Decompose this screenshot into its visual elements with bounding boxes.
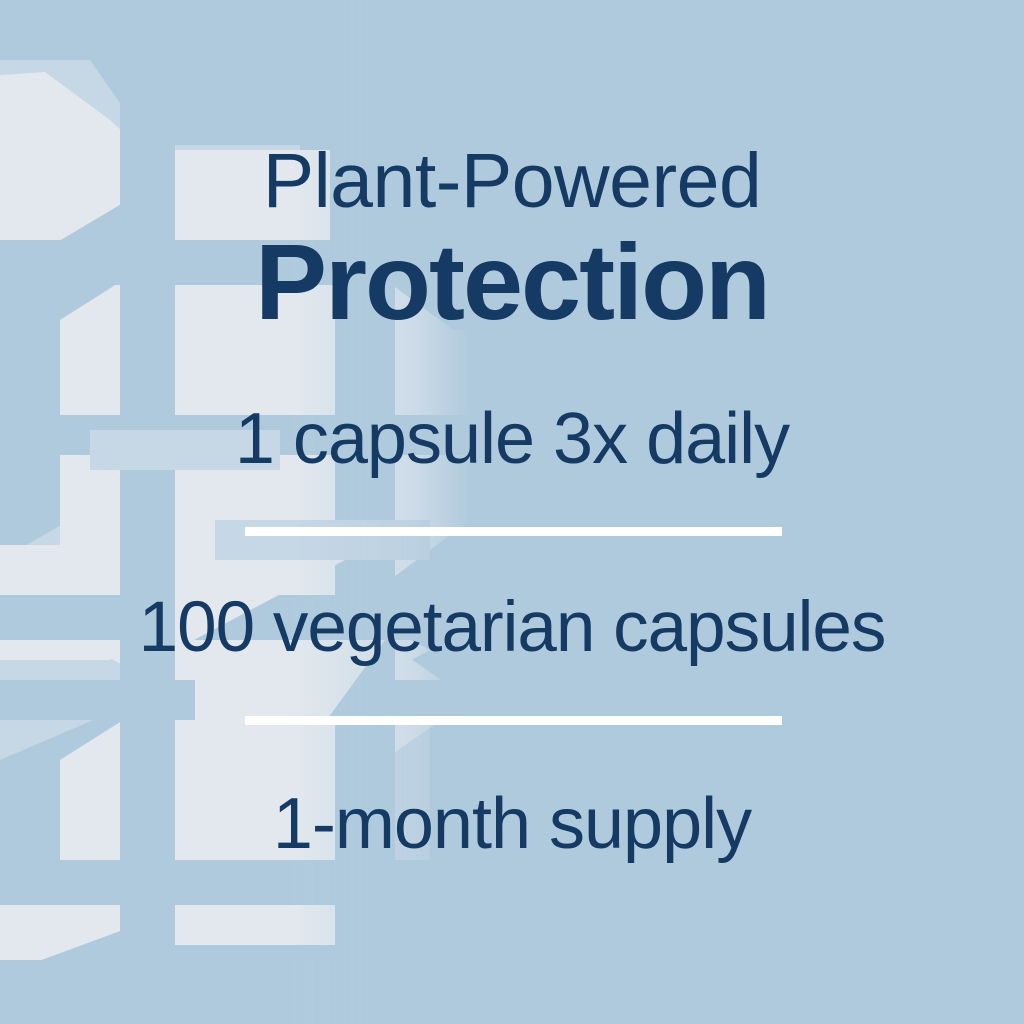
fact-supply: 1-month supply [0, 788, 1024, 860]
page-title: Protection [0, 228, 1024, 336]
divider-rule-2 [245, 716, 782, 725]
banner-content: Plant-Powered Protection 1 capsule 3x da… [0, 0, 1024, 1024]
eyebrow-text: Plant-Powered [0, 143, 1024, 220]
divider-rule-1 [245, 527, 782, 536]
product-feature-banner: Plant-Powered Protection 1 capsule 3x da… [0, 0, 1024, 1024]
fact-count: 100 vegetarian capsules [0, 592, 1024, 663]
fact-dosage: 1 capsule 3x daily [0, 403, 1024, 475]
